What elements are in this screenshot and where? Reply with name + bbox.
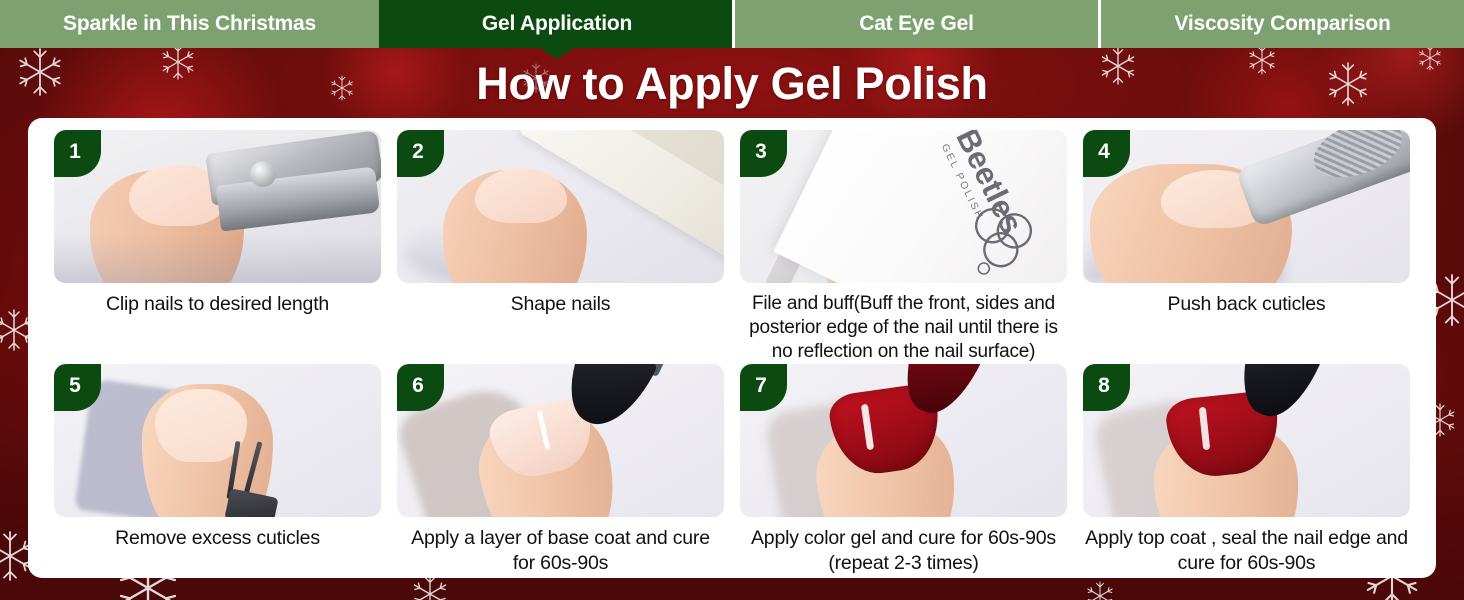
step-item-1: 1 Clip nails to desired length — [46, 130, 389, 364]
step-item-2: 2 Shape nails — [389, 130, 732, 364]
step-caption-3: File and buff(Buff the front, sides and … — [740, 292, 1067, 364]
cuticle-nipper-photo — [54, 364, 381, 517]
step-caption-8: Apply top coat , seal the nail edge and … — [1083, 526, 1410, 576]
step-caption-6: Apply a layer of base coat and cure for … — [397, 526, 724, 576]
step-thumbnail-5[interactable]: 5 — [54, 364, 381, 517]
step-item-6: 6 Apply a layer of base coat and cure fo… — [389, 364, 732, 576]
tab-viscosity-comparison[interactable]: Viscosity Comparison — [1098, 0, 1464, 48]
tab-cat-eye-gel[interactable]: Cat Eye Gel — [732, 0, 1098, 48]
cuticle-pusher-photo — [1083, 130, 1410, 283]
step-item-8: 8 Apply top coat , seal the nail edge an… — [1075, 364, 1418, 576]
tab-label: Viscosity Comparison — [1174, 12, 1390, 36]
buffer-block-photo: Beetles GEL POLISH — [740, 130, 1067, 283]
page-title: How to Apply Gel Polish — [0, 52, 1464, 116]
step-item-4: 4 Push back cuticles — [1075, 130, 1418, 364]
top-coat-brush-photo — [1083, 364, 1410, 517]
step-item-5: 5 Remove excess cuticles — [46, 364, 389, 576]
tab-label: Sparkle in This Christmas — [63, 12, 316, 36]
steps-card: 1 Clip nails to desired length 2 Shape n… — [28, 118, 1436, 578]
tab-label: Cat Eye Gel — [859, 12, 974, 36]
category-tab-bar[interactable]: Sparkle in This Christmas Gel Applicatio… — [0, 0, 1464, 48]
steps-row-bottom: 5 Remove excess cuticles 6 Apply a layer… — [46, 364, 1418, 576]
step-thumbnail-6[interactable]: 6 — [397, 364, 724, 517]
step-item-7: 7 Apply color gel and cure for 60s-90s (… — [732, 364, 1075, 576]
tab-gel-application[interactable]: Gel Application — [379, 0, 732, 48]
steps-row-top: 1 Clip nails to desired length 2 Shape n… — [46, 130, 1418, 364]
base-coat-brush-photo — [397, 364, 724, 517]
step-item-3: Beetles GEL POLISH 3 File and buff(Buff … — [732, 130, 1075, 364]
step-thumbnail-7[interactable]: 7 — [740, 364, 1067, 517]
active-tab-pointer-icon — [538, 47, 576, 59]
step-thumbnail-4[interactable]: 4 — [1083, 130, 1410, 283]
step-thumbnail-1[interactable]: 1 — [54, 130, 381, 283]
step-caption-4: Push back cuticles — [1166, 292, 1328, 317]
nail-clipper-photo — [54, 130, 381, 283]
tab-label: Gel Application — [482, 12, 632, 36]
nail-file-photo — [397, 130, 724, 283]
tab-sparkle-in-this-christmas[interactable]: Sparkle in This Christmas — [0, 0, 379, 48]
step-caption-1: Clip nails to desired length — [104, 292, 331, 317]
step-thumbnail-8[interactable]: 8 — [1083, 364, 1410, 517]
step-caption-5: Remove excess cuticles — [113, 526, 322, 551]
step-caption-7: Apply color gel and cure for 60s-90s (re… — [740, 526, 1067, 576]
step-thumbnail-3[interactable]: Beetles GEL POLISH 3 — [740, 130, 1067, 283]
step-caption-2: Shape nails — [509, 292, 613, 317]
color-gel-brush-photo — [740, 364, 1067, 517]
step-thumbnail-2[interactable]: 2 — [397, 130, 724, 283]
